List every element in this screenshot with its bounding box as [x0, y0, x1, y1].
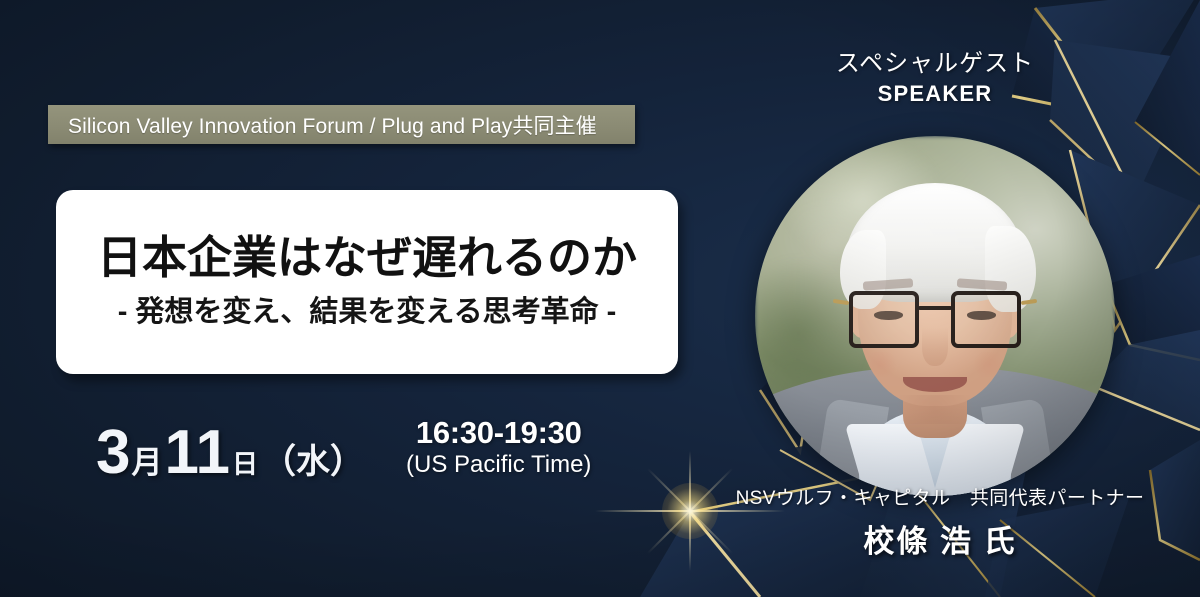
host-tagline-text: Silicon Valley Innovation Forum / Plug a… — [68, 110, 597, 140]
speaker-identity: NSVウルフ・キャピタル 共同代表パートナー 校條 浩 氏 — [700, 487, 1180, 561]
date-month-number: 3 — [96, 422, 130, 484]
date-day-of-week: （水） — [262, 445, 364, 479]
event-date: 3 月 11 日 （水） — [96, 422, 364, 484]
event-subtitle: - 発想を変え、結果を変える思考革命 - — [118, 288, 617, 330]
time-zone-note: (US Pacific Time) — [406, 451, 591, 479]
date-day-unit: 日 — [232, 451, 258, 477]
date-day-number: 11 — [164, 422, 230, 484]
title-card: 日本企業はなぜ遅れるのか - 発想を変え、結果を変える思考革命 - — [56, 190, 678, 374]
event-time: 16:30-19:30 (US Pacific Time) — [406, 416, 591, 479]
speaker-badge-jp: スペシャルゲスト — [800, 50, 1070, 79]
speaker-badge: スペシャルゲスト SPEAKER — [800, 50, 1070, 107]
event-title: 日本企業はなぜ遅れるのか — [97, 234, 637, 282]
speaker-affiliation: NSVウルフ・キャピタル 共同代表パートナー — [700, 487, 1180, 511]
host-tagline-bar: Silicon Valley Innovation Forum / Plug a… — [48, 105, 635, 144]
speaker-badge-en: SPEAKER — [800, 81, 1070, 107]
event-banner: Silicon Valley Innovation Forum / Plug a… — [0, 0, 1200, 597]
speaker-name: 校條 浩 氏 — [700, 516, 1180, 561]
time-range: 16:30-19:30 — [406, 416, 591, 450]
schedule-row: 3 月 11 日 （水） 16:30-19:30 (US Pacific Tim… — [96, 416, 591, 484]
date-month-unit: 月 — [131, 447, 162, 478]
speaker-portrait — [755, 136, 1115, 496]
